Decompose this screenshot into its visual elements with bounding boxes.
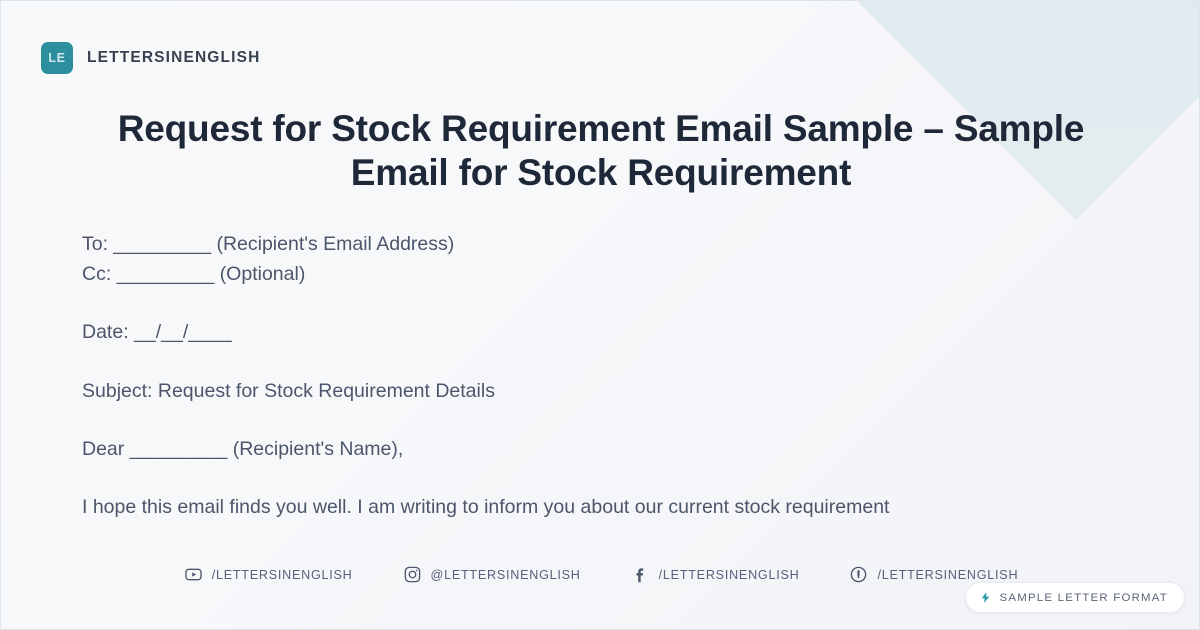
lightning-bolt-icon <box>979 590 992 605</box>
letter-block-date: Date: __/__/____ <box>82 317 1122 347</box>
brand-name-label: LETTERSINENGLISH <box>87 49 260 67</box>
badge-label: SAMPLE LETTER FORMAT <box>1000 592 1168 604</box>
social-handle-label: /LETTERSINENGLISH <box>659 568 800 582</box>
letter-line: Subject: Request for Stock Requirement D… <box>82 376 1122 406</box>
letter-block-subject: Subject: Request for Stock Requirement D… <box>82 376 1122 406</box>
social-handle-label: /LETTERSINENGLISH <box>212 568 353 582</box>
sample-letter-format-badge[interactable]: SAMPLE LETTER FORMAT <box>965 582 1185 613</box>
page-title: Request for Stock Requirement Email Samp… <box>101 107 1101 195</box>
letter-line: I hope this email finds you well. I am w… <box>82 492 1122 522</box>
youtube-icon <box>184 565 203 584</box>
letter-block-recipients: To: _________ (Recipient's Email Address… <box>82 229 1122 289</box>
social-handle-label: /LETTERSINENGLISH <box>877 568 1018 582</box>
brand-logo[interactable]: LE LETTERSINENGLISH <box>41 42 260 74</box>
letter-block-paragraph: I hope this email finds you well. I am w… <box>82 492 1122 522</box>
instagram-icon <box>403 565 422 584</box>
social-link-facebook[interactable]: /LETTERSINENGLISH <box>631 565 800 584</box>
pinterest-icon <box>849 565 868 584</box>
letter-line: To: _________ (Recipient's Email Address… <box>82 229 1122 259</box>
letter-line: Date: __/__/____ <box>82 317 1122 347</box>
letter-line: Dear _________ (Recipient's Name), <box>82 434 1122 464</box>
social-handle-label: @LETTERSINENGLISH <box>431 568 581 582</box>
social-link-youtube[interactable]: /LETTERSINENGLISH <box>184 565 353 584</box>
letter-block-salutation: Dear _________ (Recipient's Name), <box>82 434 1122 464</box>
facebook-icon <box>631 565 650 584</box>
letter-line: Cc: _________ (Optional) <box>82 259 1122 289</box>
brand-monogram-icon: LE <box>41 42 73 74</box>
letter-sample-card: LE LETTERSINENGLISH Request for Stock Re… <box>0 0 1200 630</box>
social-link-instagram[interactable]: @LETTERSINENGLISH <box>403 565 581 584</box>
letter-body: To: _________ (Recipient's Email Address… <box>82 229 1122 522</box>
